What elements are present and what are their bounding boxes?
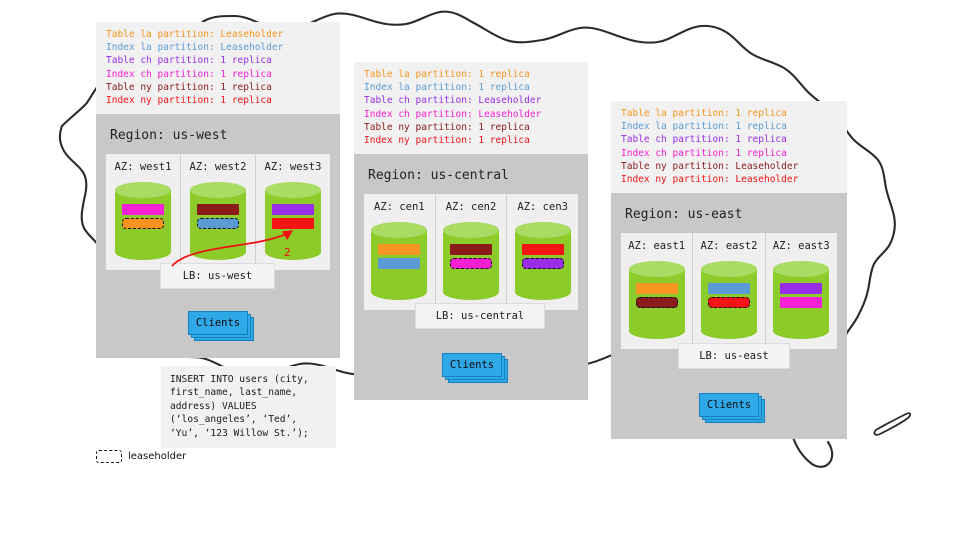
database-node-icon: [115, 182, 171, 260]
clients-us-west[interactable]: Clients: [188, 311, 250, 335]
partition-status-panel-us-east: Table la partition: 1 replicaIndex la pa…: [611, 101, 847, 193]
arrow-step-label: 2: [284, 246, 291, 259]
database-node-icon: [629, 261, 685, 339]
region-us-west: Table la partition: LeaseholderIndex la …: [96, 22, 340, 358]
replica-bar: [636, 283, 678, 294]
partition-status-row: Index la partition: 1 replica: [621, 120, 837, 133]
az-east1: AZ: east1: [621, 233, 693, 349]
replica-bar-leaseholder: [450, 258, 492, 269]
replica-bars: [272, 204, 314, 232]
region-title-us-central: Region: us-central: [368, 168, 576, 183]
partition-status-row: Index ch partition: Leaseholder: [364, 108, 578, 121]
az-label: AZ: cen3: [517, 201, 568, 213]
az-west3: AZ: west3: [256, 154, 330, 270]
replica-bar: [272, 218, 314, 229]
replica-bars: [522, 244, 564, 272]
replica-bar-leaseholder: [122, 218, 164, 229]
replica-bar-leaseholder: [522, 258, 564, 269]
az-strip-us-west: AZ: west1AZ: west2AZ: west3: [106, 154, 330, 270]
load-balancer-us-central[interactable]: LB: us-central: [415, 303, 545, 329]
replica-bar: [272, 204, 314, 215]
partition-status-row: Table la partition: 1 replica: [621, 107, 837, 120]
clients-label-us-east: Clients: [699, 393, 759, 417]
partition-status-row: Table ch partition: Leaseholder: [364, 94, 578, 107]
database-node-icon: [443, 222, 499, 300]
partition-status-row: Index la partition: 1 replica: [364, 81, 578, 94]
partition-status-row: Index ny partition: 1 replica: [106, 94, 330, 107]
replica-bars: [780, 283, 822, 311]
database-node-icon: [265, 182, 321, 260]
partition-status-row: Index ch partition: 1 replica: [106, 68, 330, 81]
az-label: AZ: east3: [773, 240, 830, 252]
partition-status-row: Index ny partition: Leaseholder: [621, 173, 837, 186]
leaseholder-key-label: leaseholder: [128, 451, 186, 462]
partition-status-row: Table ny partition: 1 replica: [106, 81, 330, 94]
database-node-icon: [371, 222, 427, 300]
database-node-icon: [773, 261, 829, 339]
partition-status-row: Table ny partition: Leaseholder: [621, 160, 837, 173]
replica-bars: [450, 244, 492, 272]
partition-status-row: Table la partition: 1 replica: [364, 68, 578, 81]
replica-bar-leaseholder: [636, 297, 678, 308]
az-label: AZ: cen1: [374, 201, 425, 213]
az-label: AZ: west3: [265, 161, 322, 173]
replica-bar-leaseholder: [708, 297, 750, 308]
partition-status-row: Index ch partition: 1 replica: [621, 147, 837, 160]
az-label: AZ: west2: [190, 161, 247, 173]
az-cen3: AZ: cen3: [507, 194, 578, 310]
replica-bars: [122, 204, 164, 232]
partition-status-panel-us-central: Table la partition: 1 replicaIndex la pa…: [354, 62, 588, 154]
replica-bar: [450, 244, 492, 255]
partition-status-row: Table ch partition: 1 replica: [106, 54, 330, 67]
az-east3: AZ: east3: [766, 233, 837, 349]
replica-bar: [197, 204, 239, 215]
diagram-canvas: Table la partition: LeaseholderIndex la …: [0, 0, 960, 540]
partition-status-row: Table ch partition: 1 replica: [621, 133, 837, 146]
replica-bar: [780, 283, 822, 294]
region-title-us-west: Region: us-west: [110, 128, 328, 143]
az-label: AZ: east1: [628, 240, 685, 252]
partition-status-row: Table ny partition: 1 replica: [364, 121, 578, 134]
replica-bar-leaseholder: [197, 218, 239, 229]
database-node-icon: [515, 222, 571, 300]
partition-status-row: Index ny partition: 1 replica: [364, 134, 578, 147]
replica-bars: [197, 204, 239, 232]
partition-status-panel-us-west: Table la partition: LeaseholderIndex la …: [96, 22, 340, 114]
az-cen1: AZ: cen1: [364, 194, 436, 310]
replica-bars: [636, 283, 678, 311]
replica-bars: [378, 244, 420, 272]
region-us-central: Table la partition: 1 replicaIndex la pa…: [354, 62, 588, 400]
region-title-us-east: Region: us-east: [625, 207, 835, 222]
replica-bar: [522, 244, 564, 255]
clients-label-us-central: Clients: [442, 353, 502, 377]
replica-bar: [708, 283, 750, 294]
database-node-icon: [190, 182, 246, 260]
az-label: AZ: west1: [115, 161, 172, 173]
replica-bar: [122, 204, 164, 215]
clients-us-central[interactable]: Clients: [442, 353, 504, 377]
az-label: AZ: cen2: [446, 201, 497, 213]
az-strip-us-east: AZ: east1AZ: east2AZ: east3: [621, 233, 837, 349]
clients-label-us-west: Clients: [188, 311, 248, 335]
region-us-east: Table la partition: 1 replicaIndex la pa…: [611, 101, 847, 439]
az-strip-us-central: AZ: cen1AZ: cen2AZ: cen3: [364, 194, 578, 310]
sql-insert-note: INSERT INTO users (city, first_name, las…: [161, 366, 336, 448]
database-node-icon: [701, 261, 757, 339]
partition-status-row: Table la partition: Leaseholder: [106, 28, 330, 41]
replica-bar: [780, 297, 822, 308]
replica-bars: [708, 283, 750, 311]
replica-bar: [378, 258, 420, 269]
az-east2: AZ: east2: [693, 233, 765, 349]
az-west2: AZ: west2: [181, 154, 256, 270]
load-balancer-us-east[interactable]: LB: us-east: [678, 343, 790, 369]
leaseholder-key: leaseholder: [96, 450, 186, 463]
partition-status-row: Index la partition: Leaseholder: [106, 41, 330, 54]
load-balancer-us-west[interactable]: LB: us-west: [160, 263, 275, 289]
az-cen2: AZ: cen2: [436, 194, 508, 310]
az-label: AZ: east2: [701, 240, 758, 252]
az-west1: AZ: west1: [106, 154, 181, 270]
replica-bar: [378, 244, 420, 255]
clients-us-east[interactable]: Clients: [699, 393, 761, 417]
dashed-rect-icon: [96, 450, 122, 463]
